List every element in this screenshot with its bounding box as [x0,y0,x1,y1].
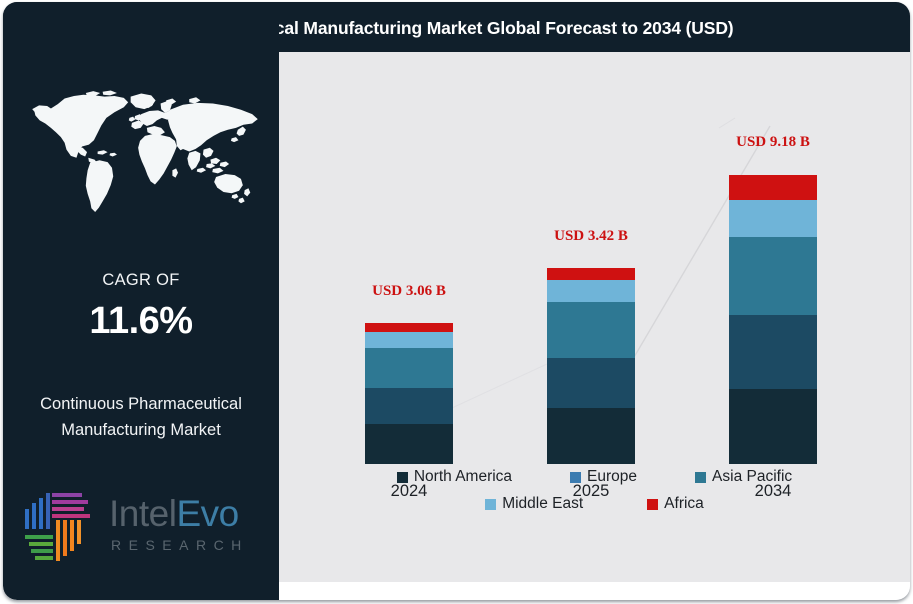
legend-swatch-north-america [397,472,408,483]
bar-2034[interactable] [729,175,817,464]
legend-item-asia-pacific[interactable]: Asia Pacific [695,468,792,486]
segment-north-america-2034[interactable] [729,389,817,464]
intelevo-pinwheel-logo-icon [21,487,105,567]
legend-swatch-europe [570,472,581,483]
cagr-label: CAGR OF [3,271,279,290]
legend-item-north-america[interactable]: North America [397,468,512,486]
legend-item-africa[interactable]: Africa [647,495,704,513]
world-map-icon [21,84,264,224]
segment-africa-2024[interactable] [365,323,453,332]
bar-value-2024: USD 3.06 B [329,283,489,300]
segment-africa-2025[interactable] [547,268,635,280]
market-name-line-2: Manufacturing Market [11,417,271,443]
segment-europe-2024[interactable] [365,388,453,424]
legend-label-middle-east: Middle East [502,495,583,513]
segment-europe-2034[interactable] [729,315,817,389]
stacked-bar-chart: USD 3.06 B 2024 USD 3.42 B [279,52,910,582]
bar-value-2025: USD 3.42 B [511,228,671,245]
bar-2024[interactable] [365,323,453,464]
segment-africa-2034[interactable] [729,175,817,200]
legend-label-north-america: North America [414,468,512,486]
logo-wordmark: IntelEvo [109,493,239,535]
market-name: Continuous Pharmaceutical Manufacturing … [11,391,271,443]
logo-word-evo: Evo [176,493,238,534]
legend-swatch-africa [647,499,658,510]
bar-2025[interactable] [547,268,635,464]
infographic-card: Continuous Pharmaceutical Manufacturing … [3,2,910,600]
legend-item-europe[interactable]: Europe [570,468,637,486]
bar-value-2034: USD 9.18 B [693,134,853,151]
legend-label-asia-pacific: Asia Pacific [712,468,792,486]
legend-swatch-middle-east [485,499,496,510]
segment-asia-pacific-2034[interactable] [729,237,817,315]
brand-logo: IntelEvo RESEARCH [21,485,265,567]
legend-swatch-asia-pacific [695,472,706,483]
segment-north-america-2025[interactable] [547,408,635,464]
legend-item-middle-east[interactable]: Middle East [485,495,583,513]
segment-asia-pacific-2024[interactable] [365,348,453,388]
logo-subtitle: RESEARCH [111,537,249,553]
legend-row-2: Middle East Africa [279,495,910,513]
segment-asia-pacific-2025[interactable] [547,302,635,358]
legend-row-1: North America Europe Asia Pacific [279,468,910,486]
legend-label-europe: Europe [587,468,637,486]
segment-middle-east-2034[interactable] [729,200,817,237]
logo-word-intel: Intel [109,493,176,534]
chart-legend: North America Europe Asia Pacific Middle [279,468,910,522]
infographic-root: Continuous Pharmaceutical Manufacturing … [0,0,913,604]
market-name-line-1: Continuous Pharmaceutical [11,391,271,417]
legend-label-africa: Africa [664,495,704,513]
segment-middle-east-2024[interactable] [365,332,453,348]
segment-europe-2025[interactable] [547,358,635,408]
panel-bottom-spacer [279,582,910,600]
segment-middle-east-2025[interactable] [547,280,635,302]
segment-north-america-2024[interactable] [365,424,453,464]
cagr-value: 11.6% [3,300,279,343]
